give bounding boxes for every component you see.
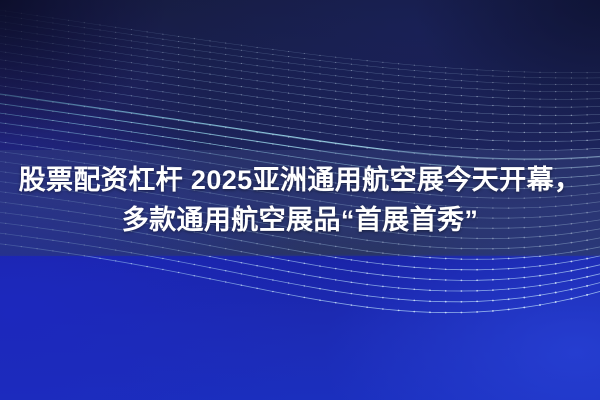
headline-line-1: 股票配资杠杆 2025亚洲通用航空展今天开幕，	[0, 160, 600, 200]
headline-line-2: 多款通用航空展品“首展首秀”	[0, 200, 600, 240]
banner-image: 股票配资杠杆 2025亚洲通用航空展今天开幕， 多款通用航空展品“首展首秀”	[0, 0, 600, 400]
page-title: 股票配资杠杆 2025亚洲通用航空展今天开幕， 多款通用航空展品“首展首秀”	[0, 160, 600, 240]
